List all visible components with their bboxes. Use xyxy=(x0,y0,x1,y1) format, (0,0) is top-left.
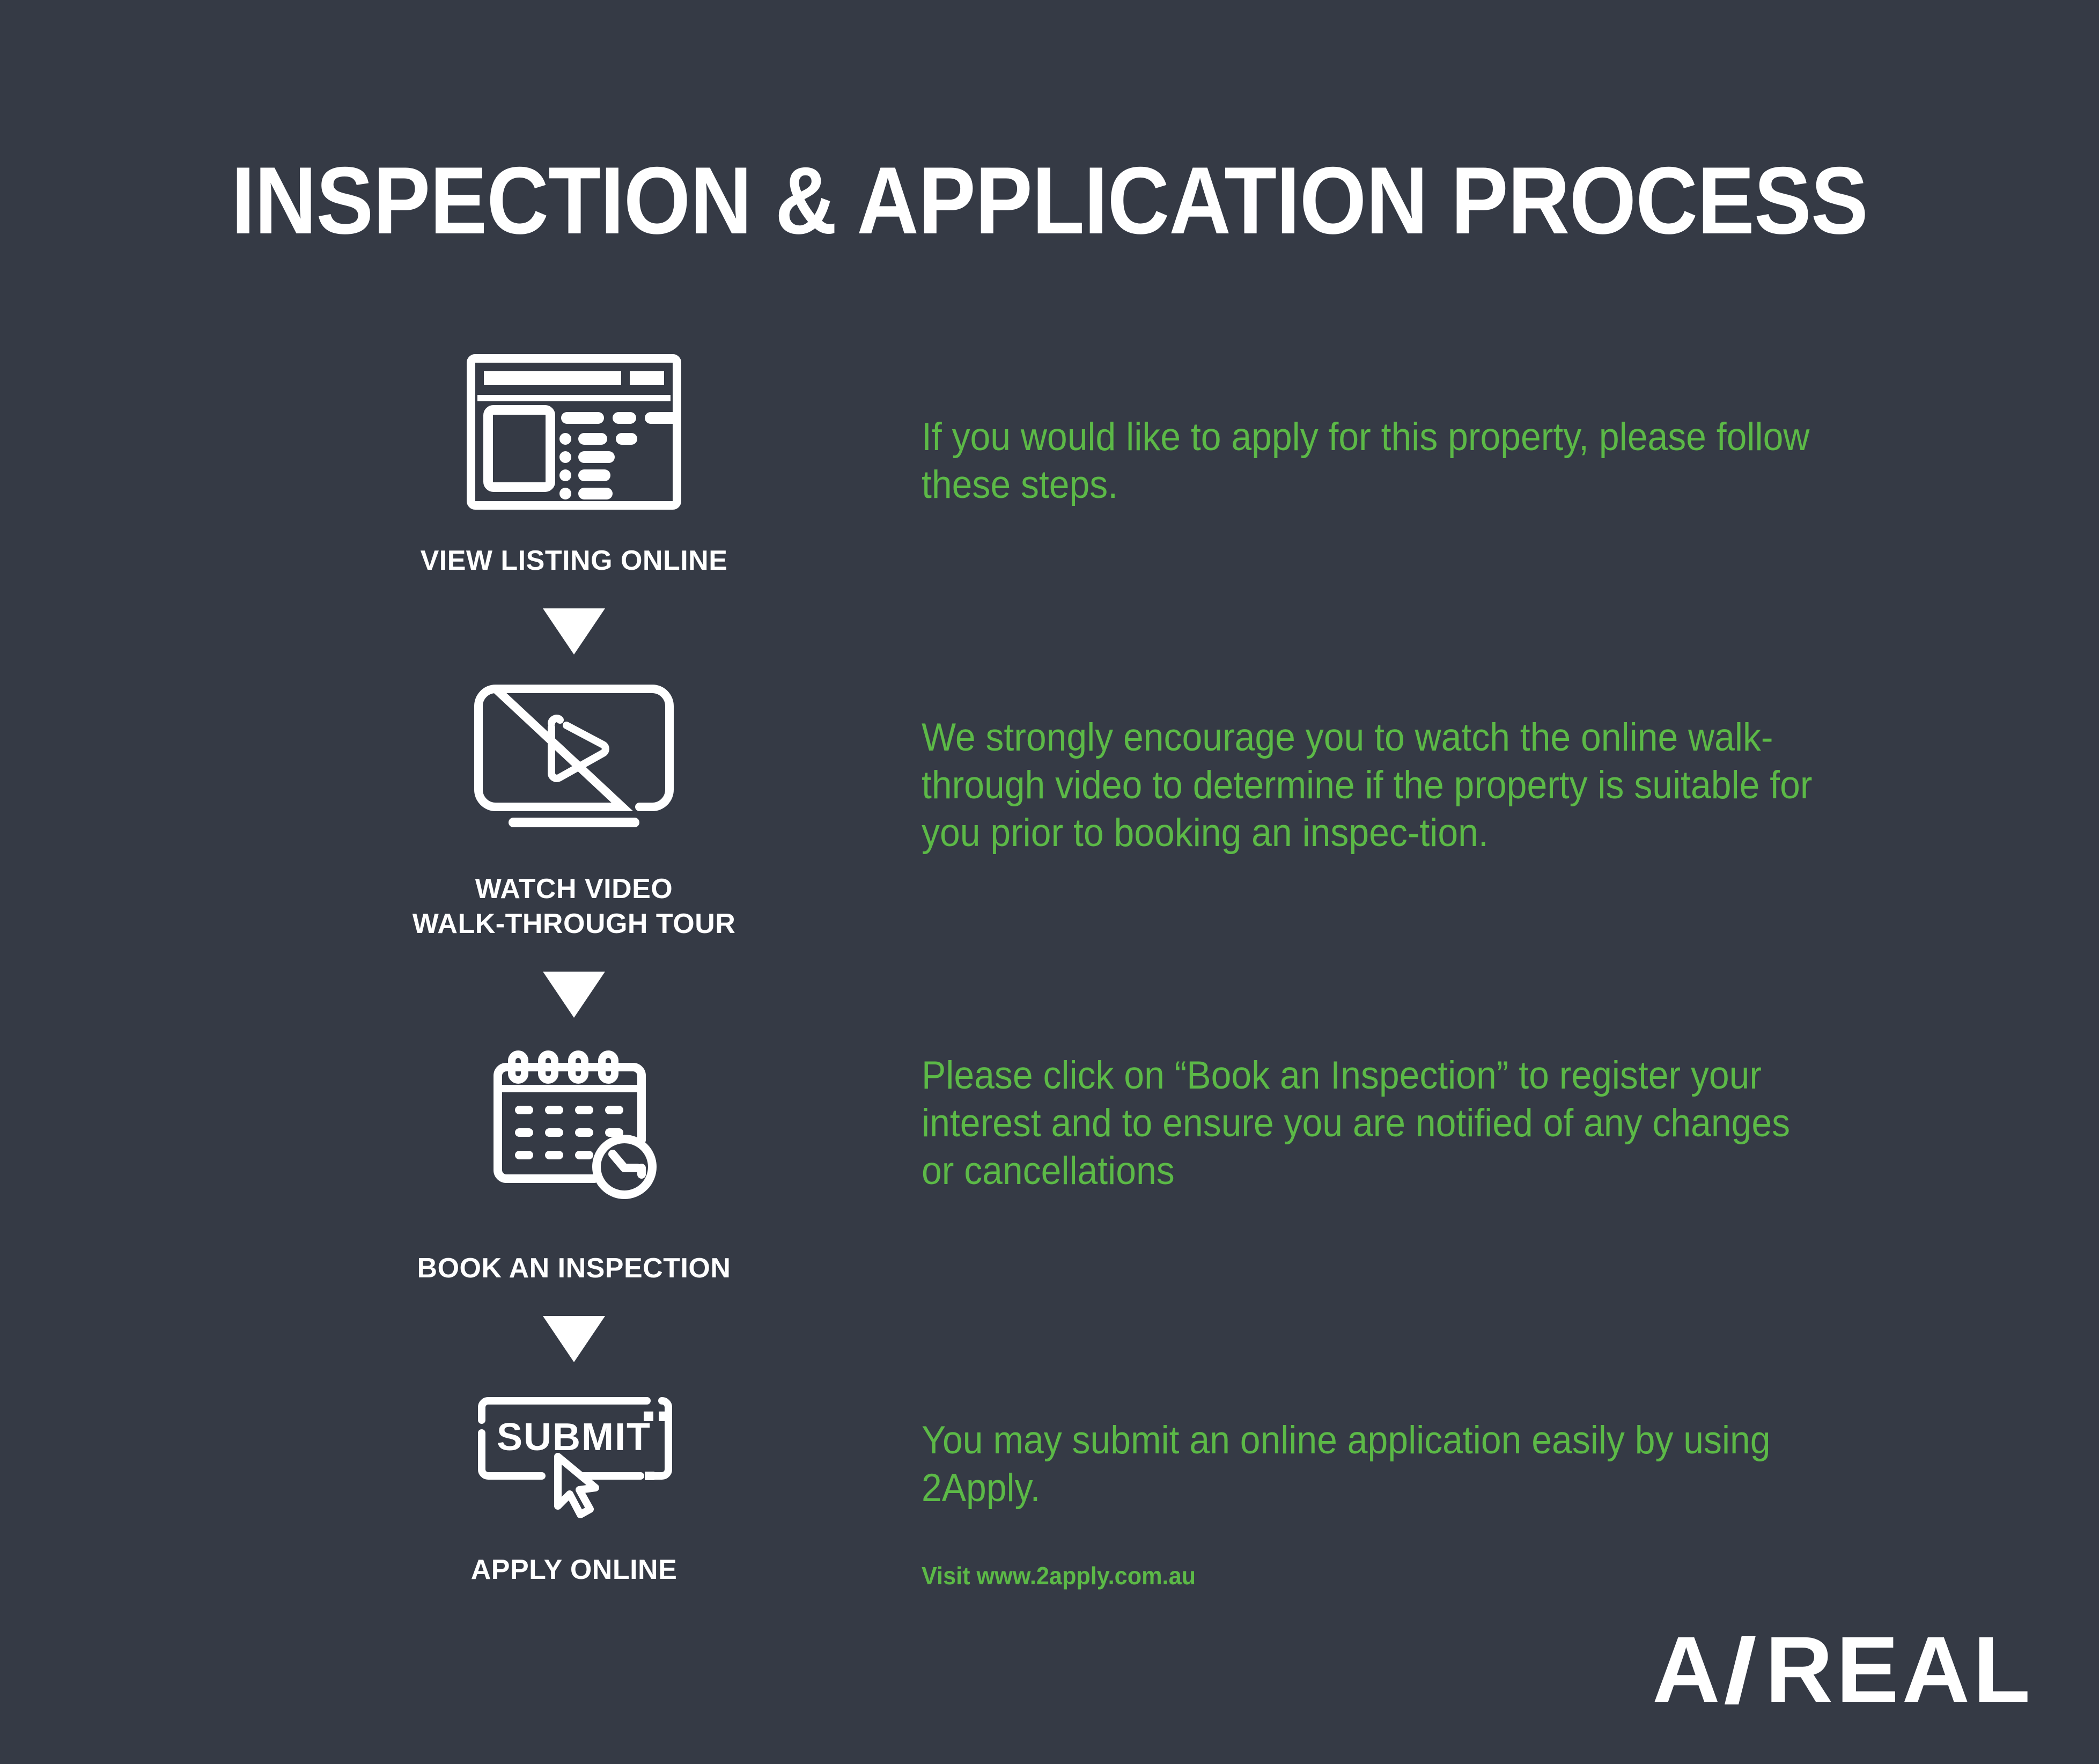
step-book-an-inspection[interactable]: BOOK AN INSPECTION xyxy=(370,1046,778,1286)
browser-listing-icon xyxy=(467,354,681,512)
flow-arrow-3-wrap xyxy=(370,1316,778,1362)
copy-text-2: We strongly encourage you to watch the o… xyxy=(922,714,1820,857)
step-label-apply-online: APPLY ONLINE xyxy=(471,1553,677,1587)
flow-arrow-1-wrap xyxy=(370,608,778,655)
copy-block-watch-video: We strongly encourage you to watch the o… xyxy=(922,714,1820,857)
step-label-view-listing-online: VIEW LISTING ONLINE xyxy=(421,543,728,578)
video-play-monitor-icon xyxy=(472,682,676,841)
copy-text-1: If you would like to apply for this prop… xyxy=(922,413,1820,509)
step-watch-video[interactable]: WATCH VIDEO WALK-THROUGH TOUR xyxy=(370,682,778,942)
areal-logo: A REAL xyxy=(1652,1623,2034,1717)
submit-button-cursor-icon: SUBMIT xyxy=(467,1390,681,1522)
logo-slash-icon xyxy=(1725,1636,1756,1704)
down-arrow-icon xyxy=(543,1316,605,1362)
step-view-listing-online[interactable]: VIEW LISTING ONLINE xyxy=(370,354,778,578)
infographic-poster: INSPECTION & APPLICATION PROCESS xyxy=(0,0,2099,1764)
step-column: VIEW LISTING ONLINE WATCH VIDEO WALK-THR… xyxy=(370,354,778,1587)
svg-text:SUBMIT: SUBMIT xyxy=(497,1416,651,1459)
copy-block-view-listing: If you would like to apply for this prop… xyxy=(922,413,1820,509)
step-label-watch-video: WATCH VIDEO WALK-THROUGH TOUR xyxy=(413,872,736,942)
copy-text-4: You may submit an online application eas… xyxy=(922,1416,1820,1512)
down-arrow-icon xyxy=(543,972,605,1018)
logo-letter-a: A xyxy=(1652,1623,1723,1717)
copy-block-book-inspection: Please click on “Book an Inspection” to … xyxy=(922,1052,1820,1195)
page-title: INSPECTION & APPLICATION PROCESS xyxy=(105,153,1994,248)
down-arrow-icon xyxy=(543,608,605,655)
visit-url-link[interactable]: Visit www.2apply.com.au xyxy=(922,1561,1196,1590)
step-apply-online[interactable]: SUBMIT APPLY ONLINE xyxy=(370,1390,778,1587)
copy-block-apply-online: You may submit an online application eas… xyxy=(922,1416,1820,1512)
copy-text-3: Please click on “Book an Inspection” to … xyxy=(922,1052,1820,1195)
calendar-clock-icon xyxy=(483,1046,665,1220)
step-label-book-an-inspection: BOOK AN INSPECTION xyxy=(417,1251,731,1286)
logo-word-real: REAL xyxy=(1765,1623,2034,1717)
flow-arrow-2-wrap xyxy=(370,972,778,1018)
